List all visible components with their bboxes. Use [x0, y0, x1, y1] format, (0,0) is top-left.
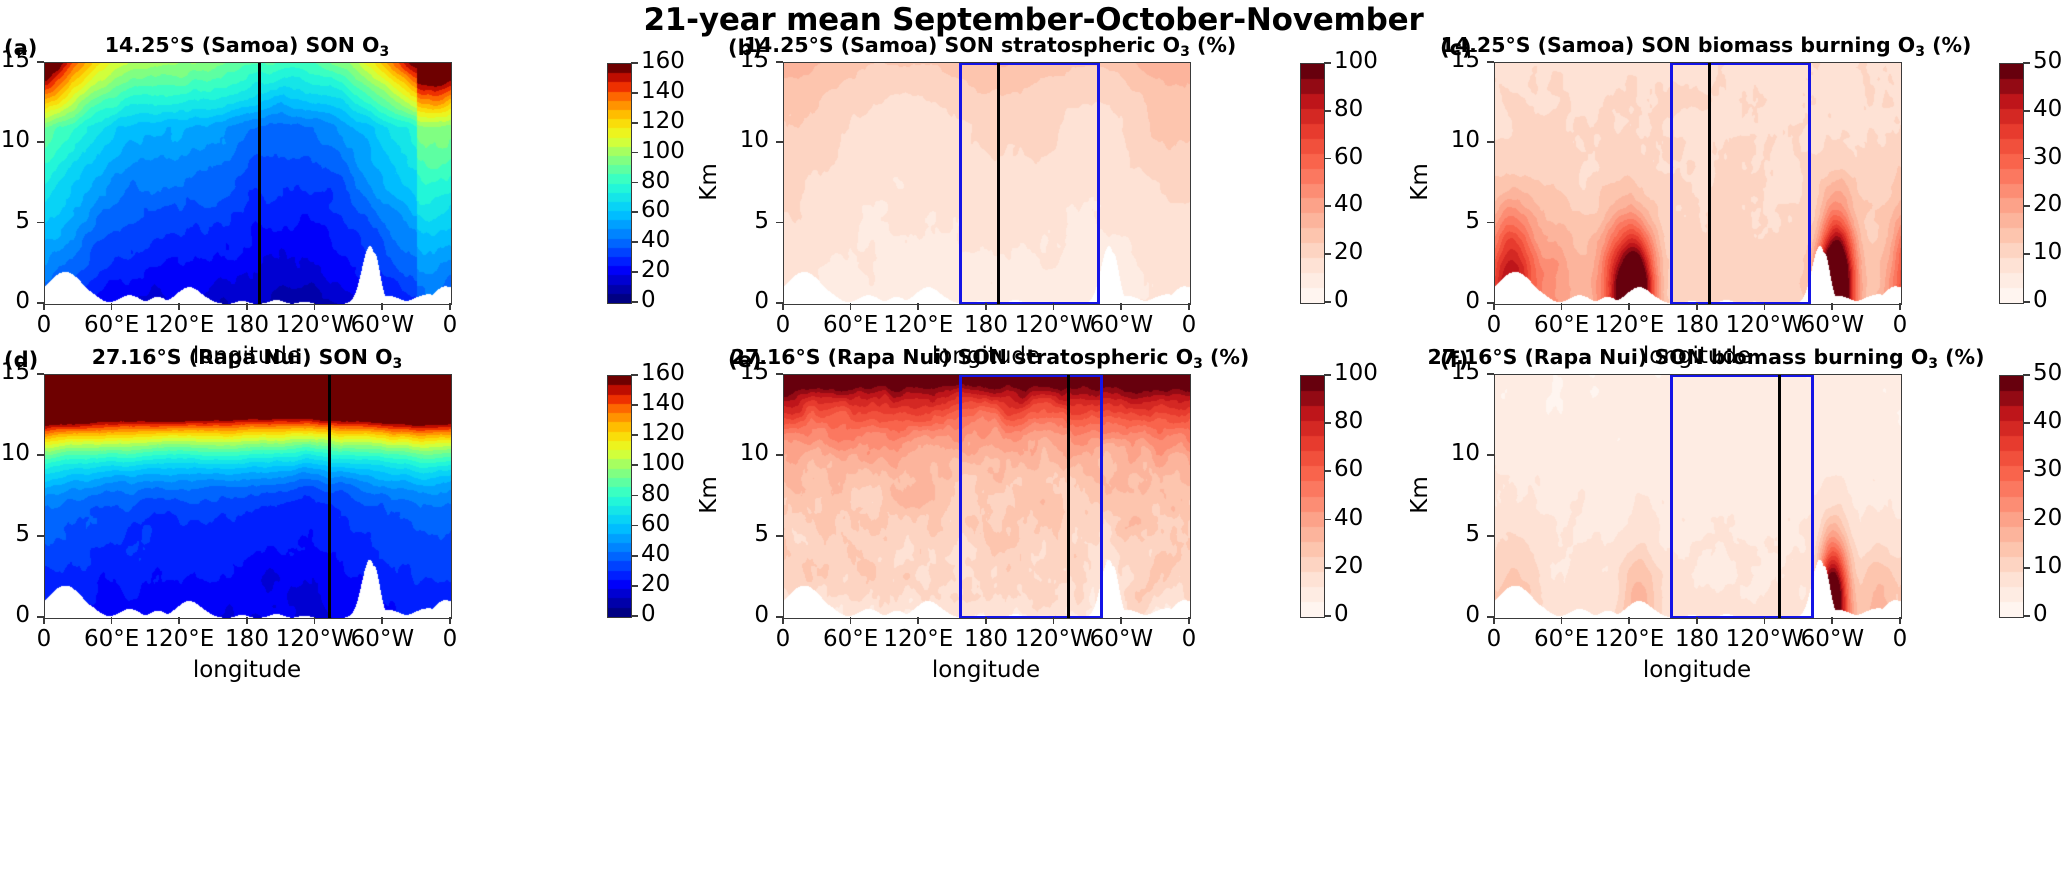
- colorbar-tick-label: 140: [641, 78, 685, 104]
- colorbar-tick-label: 20: [1334, 553, 1363, 579]
- colorbar-tick-mark: [1324, 253, 1331, 255]
- colorbar-tick-mark: [631, 152, 638, 154]
- x-tick-mark: [917, 303, 919, 310]
- y-tick-label: 0: [707, 288, 769, 314]
- colorbar-tick-mark: [631, 62, 638, 64]
- panel-title-units: (%): [1190, 33, 1236, 57]
- station-longitude-line: [1067, 375, 1070, 618]
- colorbar-tick-mark: [2023, 422, 2030, 424]
- colorbar-tick-mark: [631, 434, 638, 436]
- colorbar-tick-mark: [631, 122, 638, 124]
- x-axis-label: longitude: [866, 657, 1106, 683]
- heatmap-field: [45, 63, 451, 304]
- colorbar-tick-mark: [1324, 567, 1331, 569]
- colorbar-tick-label: 20: [2033, 505, 2062, 531]
- y-tick-label: 10: [1418, 440, 1480, 466]
- colorbar-tick-mark: [1324, 110, 1331, 112]
- x-tick-mark: [1053, 617, 1055, 624]
- colorbar-tick-mark: [631, 464, 638, 466]
- colorbar-tick-label: 30: [2033, 456, 2062, 482]
- colorbar-tick-label: 80: [1334, 408, 1363, 434]
- colorbar-tick-label: 0: [1334, 601, 1349, 627]
- colorbar-tick-label: 20: [641, 257, 670, 283]
- y-tick-mark: [776, 373, 783, 375]
- heatmap-canvas: [45, 375, 451, 618]
- colorbar-gradient: [2000, 376, 2023, 617]
- station-longitude-line: [997, 63, 1000, 304]
- x-tick-label: 0: [1845, 312, 1955, 338]
- colorbar-tick-mark: [631, 374, 638, 376]
- colorbar-tick-mark: [631, 495, 638, 497]
- x-tick-mark: [1120, 617, 1122, 624]
- colorbar-tick-label: 80: [641, 168, 670, 194]
- y-tick-label: 15: [707, 47, 769, 73]
- y-tick-label: 5: [0, 521, 30, 547]
- colorbar-e: [1300, 375, 1325, 618]
- colorbar-tick-mark: [2023, 567, 2030, 569]
- x-tick-label: 0: [1134, 312, 1244, 338]
- colorbar-tick-mark: [631, 241, 638, 243]
- x-tick-mark: [1831, 303, 1833, 310]
- x-tick-mark: [1493, 303, 1495, 310]
- colorbar-tick-label: 20: [1334, 239, 1363, 265]
- x-tick-mark: [917, 617, 919, 624]
- y-axis-label: Km: [1407, 465, 1433, 525]
- y-axis-label: Km: [696, 152, 722, 212]
- panel-title-main: 27.16°S (Rapa Nui) SON stratospheric O: [731, 345, 1193, 369]
- x-tick-mark: [314, 617, 316, 624]
- colorbar-tick-mark: [2023, 519, 2030, 521]
- colorbar-tick-mark: [1324, 205, 1331, 207]
- x-tick-mark: [1696, 303, 1698, 310]
- colorbar-tick-mark: [631, 615, 638, 617]
- x-tick-mark: [1120, 303, 1122, 310]
- x-tick-label: 0: [1845, 626, 1955, 652]
- colorbar-tick-label: 0: [641, 287, 656, 313]
- x-tick-mark: [246, 303, 248, 310]
- colorbar-tick-label: 10: [2033, 239, 2062, 265]
- y-tick-label: 15: [707, 359, 769, 385]
- y-tick-mark: [37, 373, 44, 375]
- panel-title-subscript: 3: [379, 44, 389, 60]
- colorbar-tick-label: 60: [1334, 456, 1363, 482]
- y-tick-label: 10: [707, 440, 769, 466]
- station-longitude-line: [1778, 375, 1781, 618]
- y-tick-mark: [776, 61, 783, 63]
- heatmap-field: [1495, 63, 1901, 304]
- colorbar-c: [1999, 63, 2024, 304]
- x-tick-mark: [178, 303, 180, 310]
- colorbar-tick-mark: [631, 301, 638, 303]
- y-tick-mark: [776, 454, 783, 456]
- y-tick-label: 0: [1418, 602, 1480, 628]
- heatmap-canvas: [1495, 375, 1901, 618]
- x-tick-mark: [1188, 617, 1190, 624]
- x-tick-label: 0: [395, 312, 505, 338]
- colorbar-tick-mark: [2023, 62, 2030, 64]
- x-tick-mark: [1696, 617, 1698, 624]
- colorbar-tick-mark: [631, 585, 638, 587]
- colorbar-tick-label: 100: [1334, 48, 1378, 74]
- colorbar-tick-mark: [2023, 205, 2030, 207]
- x-tick-mark: [43, 303, 45, 310]
- heatmap-canvas: [784, 375, 1190, 618]
- colorbar-tick-label: 40: [641, 541, 670, 567]
- panel-title-units: (%): [1938, 345, 1984, 369]
- panel-title-main: 14.25°S (Samoa) SON O: [105, 33, 380, 57]
- colorbar-d: [607, 375, 632, 618]
- y-tick-label: 10: [1418, 127, 1480, 153]
- x-tick-mark: [1561, 303, 1563, 310]
- x-tick-mark: [985, 303, 987, 310]
- colorbar-gradient: [2000, 64, 2023, 303]
- panel-title-subscript: 3: [1180, 44, 1190, 60]
- colorbar-tick-mark: [2023, 301, 2030, 303]
- y-tick-mark: [37, 454, 44, 456]
- panel-title-a: 14.25°S (Samoa) SON O3: [0, 33, 577, 57]
- colorbar-tick-mark: [2023, 615, 2030, 617]
- panel-title-subscript: 3: [393, 356, 403, 372]
- x-tick-mark: [985, 617, 987, 624]
- x-tick-mark: [1188, 303, 1190, 310]
- y-tick-mark: [37, 535, 44, 537]
- colorbar-tick-label: 100: [1334, 360, 1378, 386]
- heatmap-plot-a[interactable]: [44, 62, 452, 305]
- colorbar-tick-label: 60: [641, 511, 670, 537]
- x-tick-mark: [782, 303, 784, 310]
- x-tick-mark: [178, 617, 180, 624]
- panel-title-main: 14.25°S (Samoa) SON stratospheric O: [744, 33, 1180, 57]
- colorbar-tick-mark: [1324, 615, 1331, 617]
- colorbar-tick-label: 80: [1334, 96, 1363, 122]
- x-tick-mark: [314, 303, 316, 310]
- x-tick-mark: [1493, 617, 1495, 624]
- x-tick-mark: [111, 303, 113, 310]
- x-tick-mark: [1899, 303, 1901, 310]
- colorbar-gradient: [608, 376, 631, 617]
- y-tick-label: 10: [0, 127, 30, 153]
- y-tick-mark: [1487, 535, 1494, 537]
- y-tick-mark: [37, 222, 44, 224]
- colorbar-tick-label: 20: [2033, 191, 2062, 217]
- colorbar-tick-label: 100: [641, 138, 685, 164]
- colorbar-tick-label: 10: [2033, 553, 2062, 579]
- x-tick-mark: [1899, 617, 1901, 624]
- x-tick-label: 0: [1134, 626, 1244, 652]
- y-tick-label: 0: [707, 602, 769, 628]
- heatmap-canvas: [784, 63, 1190, 304]
- colorbar-tick-label: 0: [641, 601, 656, 627]
- y-tick-label: 0: [0, 602, 30, 628]
- colorbar-tick-mark: [2023, 374, 2030, 376]
- x-tick-mark: [246, 617, 248, 624]
- y-tick-label: 15: [1418, 47, 1480, 73]
- station-longitude-line: [258, 63, 261, 304]
- x-tick-mark: [449, 617, 451, 624]
- colorbar-tick-mark: [1324, 62, 1331, 64]
- colorbar-tick-label: 140: [641, 390, 685, 416]
- panel-title-subscript: 3: [1928, 356, 1938, 372]
- heatmap-plot-b[interactable]: [783, 62, 1191, 305]
- station-longitude-line: [1708, 63, 1711, 304]
- y-tick-label: 15: [0, 47, 30, 73]
- colorbar-tick-mark: [2023, 158, 2030, 160]
- y-tick-label: 15: [1418, 359, 1480, 385]
- panel-title-subscript: 3: [1915, 44, 1925, 60]
- colorbar-tick-mark: [631, 555, 638, 557]
- panel-title-main: 14.25°S (Samoa) SON biomass burning O: [1441, 33, 1916, 57]
- colorbar-tick-mark: [631, 271, 638, 273]
- y-tick-mark: [37, 61, 44, 63]
- colorbar-tick-label: 50: [2033, 360, 2062, 386]
- y-tick-label: 0: [1418, 288, 1480, 314]
- panel-title-d: 27.16°S (Rapa Nui) SON O3: [0, 345, 577, 369]
- colorbar-tick-label: 40: [1334, 191, 1363, 217]
- y-tick-mark: [1487, 373, 1494, 375]
- colorbar-tick-label: 0: [1334, 287, 1349, 313]
- y-tick-mark: [776, 535, 783, 537]
- colorbar-tick-mark: [2023, 470, 2030, 472]
- colorbar-tick-label: 60: [641, 197, 670, 223]
- y-axis-label: Km: [696, 465, 722, 525]
- x-tick-mark: [1831, 617, 1833, 624]
- colorbar-f: [1999, 375, 2024, 618]
- colorbar-tick-mark: [2023, 253, 2030, 255]
- colorbar-gradient: [1301, 376, 1324, 617]
- colorbar-tick-label: 20: [641, 571, 670, 597]
- x-tick-mark: [1628, 303, 1630, 310]
- x-tick-mark: [782, 617, 784, 624]
- figure-canvas: 21-year mean September-October-November …: [0, 0, 2067, 882]
- y-tick-label: 5: [0, 208, 30, 234]
- heatmap-field: [784, 375, 1190, 618]
- panel-title-subscript: 3: [1193, 356, 1203, 372]
- colorbar-tick-mark: [2023, 110, 2030, 112]
- y-tick-mark: [1487, 222, 1494, 224]
- colorbar-tick-label: 60: [1334, 144, 1363, 170]
- colorbar-tick-mark: [1324, 301, 1331, 303]
- heatmap-field: [1495, 375, 1901, 618]
- colorbar-tick-label: 40: [1334, 505, 1363, 531]
- y-tick-label: 10: [707, 127, 769, 153]
- panel-title-units: (%): [1925, 33, 1971, 57]
- x-tick-mark: [43, 617, 45, 624]
- x-tick-mark: [850, 617, 852, 624]
- x-tick-mark: [1053, 303, 1055, 310]
- x-tick-mark: [1561, 617, 1563, 624]
- x-tick-label: 0: [395, 626, 505, 652]
- x-axis-label: longitude: [1577, 657, 1817, 683]
- y-tick-mark: [1487, 61, 1494, 63]
- colorbar-tick-mark: [1324, 470, 1331, 472]
- y-axis-label: Km: [1407, 152, 1433, 212]
- y-tick-mark: [1487, 141, 1494, 143]
- heatmap-plot-f[interactable]: [1494, 374, 1902, 619]
- y-tick-label: 15: [0, 359, 30, 385]
- heatmap-plot-e[interactable]: [783, 374, 1191, 619]
- heatmap-canvas: [1495, 63, 1901, 304]
- x-tick-mark: [111, 617, 113, 624]
- colorbar-tick-label: 50: [2033, 48, 2062, 74]
- y-tick-mark: [37, 141, 44, 143]
- x-tick-mark: [381, 303, 383, 310]
- heatmap-field: [784, 63, 1190, 304]
- heatmap-plot-c[interactable]: [1494, 62, 1902, 305]
- colorbar-tick-label: 0: [2033, 601, 2048, 627]
- colorbar-tick-mark: [1324, 158, 1331, 160]
- panel-title-units: (%): [1203, 345, 1249, 369]
- colorbar-tick-label: 100: [641, 450, 685, 476]
- colorbar-tick-label: 80: [641, 481, 670, 507]
- x-tick-mark: [449, 303, 451, 310]
- colorbar-tick-mark: [631, 182, 638, 184]
- station-longitude-line: [328, 375, 331, 618]
- heatmap-plot-d[interactable]: [44, 374, 452, 619]
- colorbar-tick-mark: [1324, 519, 1331, 521]
- colorbar-tick-label: 30: [2033, 144, 2062, 170]
- x-tick-mark: [381, 617, 383, 624]
- colorbar-a: [607, 63, 632, 304]
- colorbar-tick-mark: [631, 92, 638, 94]
- x-axis-label: longitude: [127, 657, 367, 683]
- y-tick-label: 0: [0, 288, 30, 314]
- heatmap-canvas: [45, 63, 451, 304]
- colorbar-tick-label: 40: [641, 227, 670, 253]
- heatmap-field: [45, 375, 451, 618]
- colorbar-tick-label: 0: [2033, 287, 2048, 313]
- x-tick-mark: [1764, 617, 1766, 624]
- y-tick-mark: [776, 222, 783, 224]
- panel-title-main: 27.16°S (Rapa Nui) SON biomass burning O: [1428, 345, 1929, 369]
- colorbar-gradient: [1301, 64, 1324, 303]
- colorbar-tick-label: 40: [2033, 408, 2062, 434]
- colorbar-tick-mark: [1324, 374, 1331, 376]
- colorbar-tick-mark: [631, 525, 638, 527]
- colorbar-gradient: [608, 64, 631, 303]
- colorbar-b: [1300, 63, 1325, 304]
- colorbar-tick-label: 120: [641, 108, 685, 134]
- colorbar-tick-mark: [1324, 422, 1331, 424]
- x-tick-mark: [1764, 303, 1766, 310]
- x-tick-mark: [1628, 617, 1630, 624]
- panel-title-main: 27.16°S (Rapa Nui) SON O: [92, 345, 393, 369]
- colorbar-tick-label: 40: [2033, 96, 2062, 122]
- y-tick-mark: [1487, 454, 1494, 456]
- colorbar-tick-mark: [631, 211, 638, 213]
- y-tick-mark: [776, 141, 783, 143]
- colorbar-tick-mark: [631, 404, 638, 406]
- colorbar-tick-label: 120: [641, 420, 685, 446]
- y-tick-label: 10: [0, 440, 30, 466]
- x-tick-mark: [850, 303, 852, 310]
